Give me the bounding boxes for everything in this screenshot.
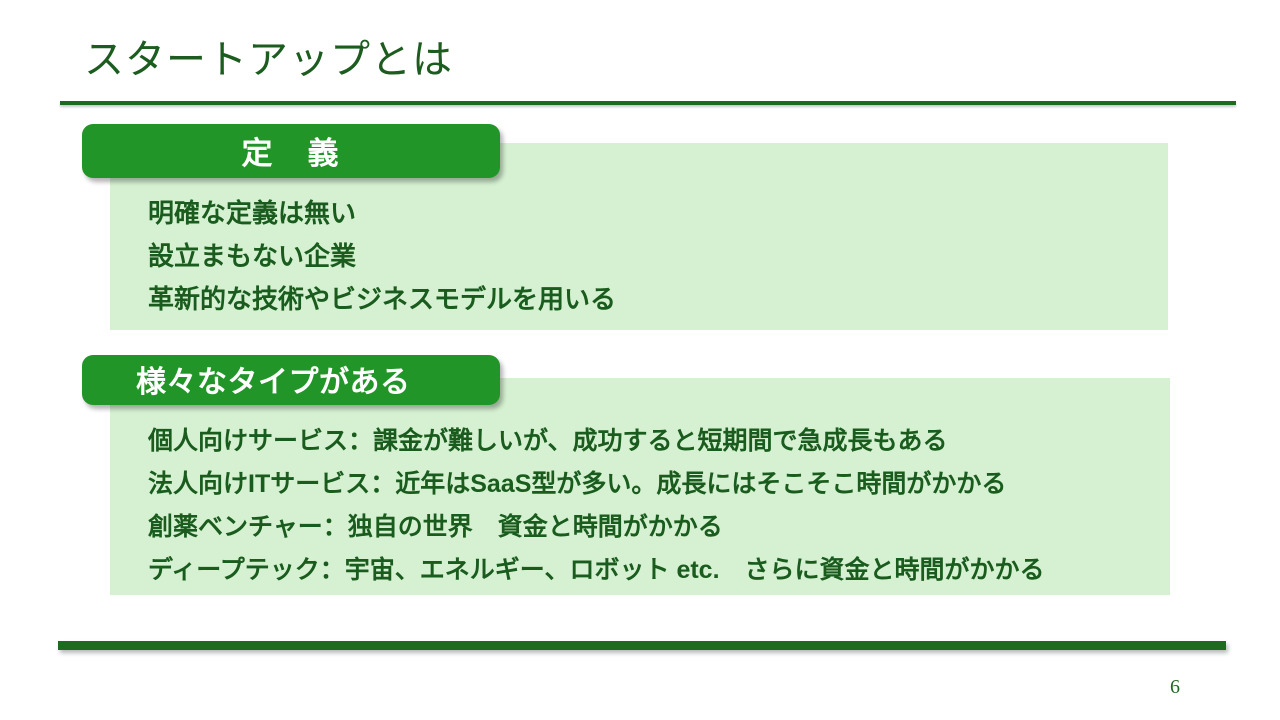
list-item: 法人向けITサービス：近年はSaaS型が多い。成長にはそこそこ時間がかかる	[148, 463, 1045, 506]
title-divider	[60, 101, 1236, 105]
page-title: スタートアップとは	[84, 38, 453, 82]
list-item: 個人向けサービス：課金が難しいが、成功すると短期間で急成長もある	[148, 420, 1045, 463]
definition-lines: 明確な定義は無い 設立まもない企業 革新的な技術やビジネスモデルを用いる	[148, 192, 616, 321]
list-item: ディープテック：宇宙、エネルギー、ロボット etc. さらに資金と時間がかかる	[148, 549, 1045, 592]
page-number: 6	[1170, 676, 1180, 699]
definition-banner: 定 義	[82, 124, 500, 178]
definition-banner-label: 定 義	[242, 128, 341, 173]
slide-canvas: スタートアップとは 定 義 明確な定義は無い 設立まもない企業 革新的な技術やビ…	[0, 0, 1280, 720]
list-item: 創薬ベンチャー：独自の世界 資金と時間がかかる	[148, 506, 1045, 549]
types-lines: 個人向けサービス：課金が難しいが、成功すると短期間で急成長もある 法人向けITサ…	[148, 420, 1045, 592]
footer-divider	[58, 641, 1226, 650]
types-banner-label: 様々なタイプがある	[136, 357, 411, 401]
list-item: 明確な定義は無い	[148, 192, 616, 235]
list-item: 設立まもない企業	[148, 235, 616, 278]
list-item: 革新的な技術やビジネスモデルを用いる	[148, 278, 616, 321]
types-banner: 様々なタイプがある	[82, 355, 500, 405]
